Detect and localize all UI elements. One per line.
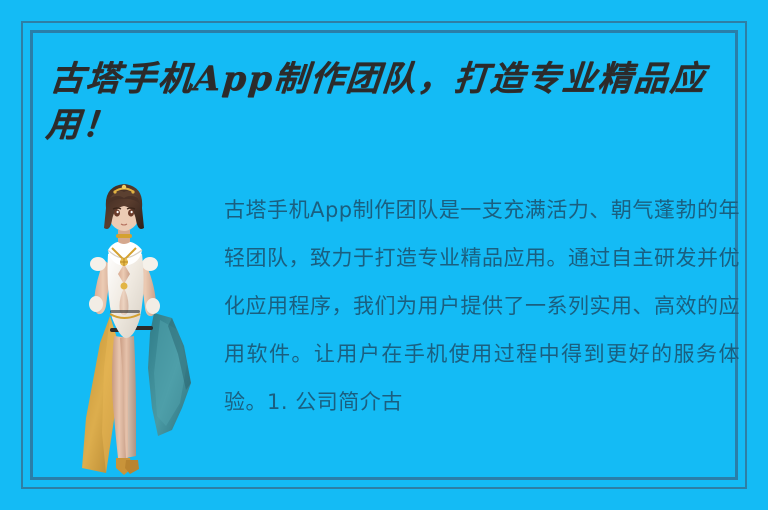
- poster-canvas: 古塔手机App制作团队，打造专业精品应用！: [0, 0, 768, 510]
- character-illustration: [60, 168, 205, 480]
- article-body: 古塔手机App制作团队是一支充满活力、朝气蓬勃的年轻团队，致力于打造专业精品应用…: [224, 186, 740, 426]
- page-title: 古塔手机App制作团队，打造专业精品应用！: [44, 56, 712, 148]
